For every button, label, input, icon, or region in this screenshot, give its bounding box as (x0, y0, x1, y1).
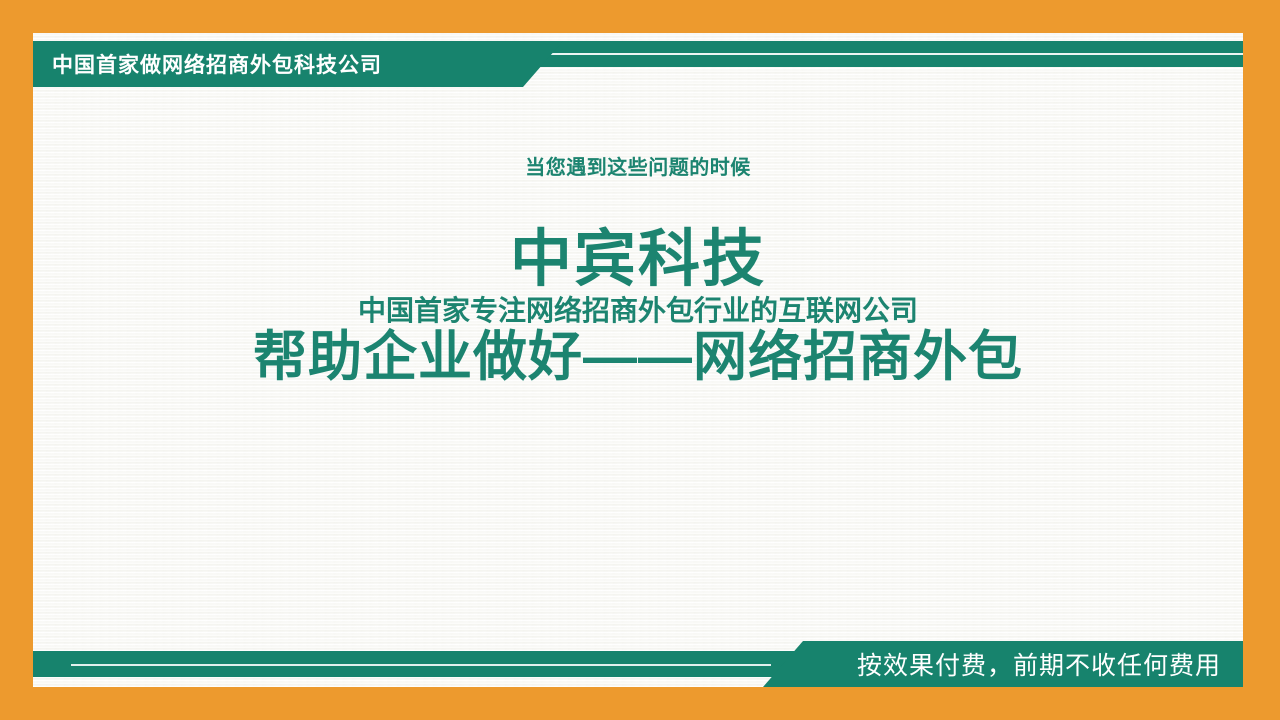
footer-hairline-rule (71, 664, 771, 666)
tagline-text: 中国首家专注网络招商外包行业的互联网公司 (358, 296, 918, 325)
slide-content: 当您遇到这些问题的时候 中宾科技 中国首家专注网络招商外包行业的互联网公司 帮助… (33, 33, 1243, 687)
headline-text: 帮助企业做好——网络招商外包 (253, 329, 1023, 386)
footer-note: 按效果付费，前期不收任何费用 (803, 641, 1243, 687)
brand-name: 中宾科技 (510, 227, 766, 292)
footer-band: 按效果付费，前期不收任何费用 (33, 641, 1243, 687)
slide-canvas: 中国首家做网络招商外包科技公司 当您遇到这些问题的时候 中宾科技 中国首家专注网… (0, 0, 1280, 720)
eyebrow-text: 当您遇到这些问题的时候 (525, 158, 751, 179)
